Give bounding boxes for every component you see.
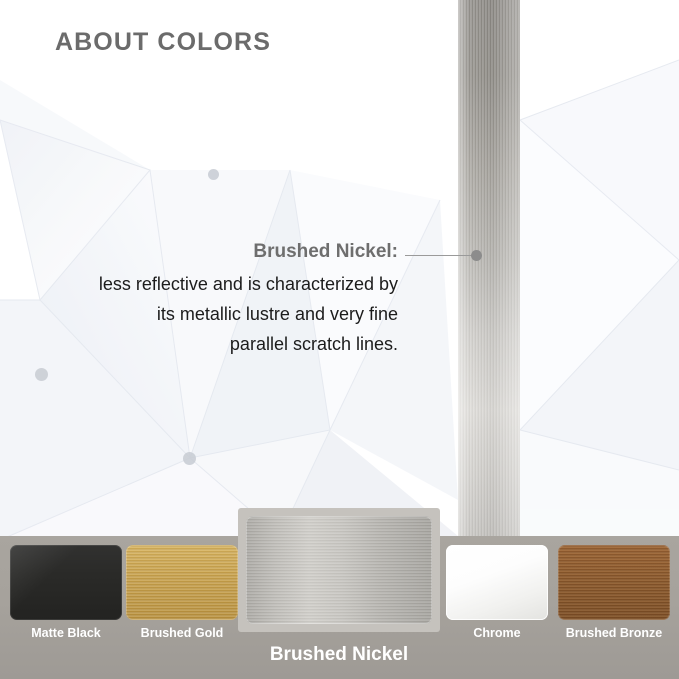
swatch-label-brushed-nickel: Brushed Nickel [238,644,440,666]
swatch-label-chrome: Chrome [446,626,548,640]
brushed-nickel-strip [458,0,520,540]
swatch-brushed-gold[interactable] [126,545,238,620]
swatch-label-brushed-gold: Brushed Gold [126,626,238,640]
callout-line-2: its metallic lustre and very fine [38,299,398,329]
callout-leader-dot [471,250,482,261]
decorative-dot [35,368,48,381]
swatch-chrome[interactable] [446,545,548,620]
callout-body: less reflective and is characterized by … [38,269,398,359]
decorative-dot [183,452,196,465]
swatch-brushed-nickel[interactable] [246,516,432,624]
callout-line-1: less reflective and is characterized by [38,269,398,299]
swatch-label-brushed-bronze: Brushed Bronze [558,626,670,640]
swatch-brushed-bronze[interactable] [558,545,670,620]
about-colors-infographic: ABOUT COLORS Brushed Nickel: less reflec… [0,0,679,679]
swatch-matte-black[interactable] [10,545,122,620]
callout-line-3: parallel scratch lines. [38,329,398,359]
callout-title: Brushed Nickel: [38,238,398,266]
decorative-dot [208,169,219,180]
swatch-label-matte-black: Matte Black [10,626,122,640]
brushed-nickel-callout: Brushed Nickel: less reflective and is c… [38,238,398,359]
page-title: ABOUT COLORS [55,28,271,57]
callout-leader-line [405,255,473,256]
